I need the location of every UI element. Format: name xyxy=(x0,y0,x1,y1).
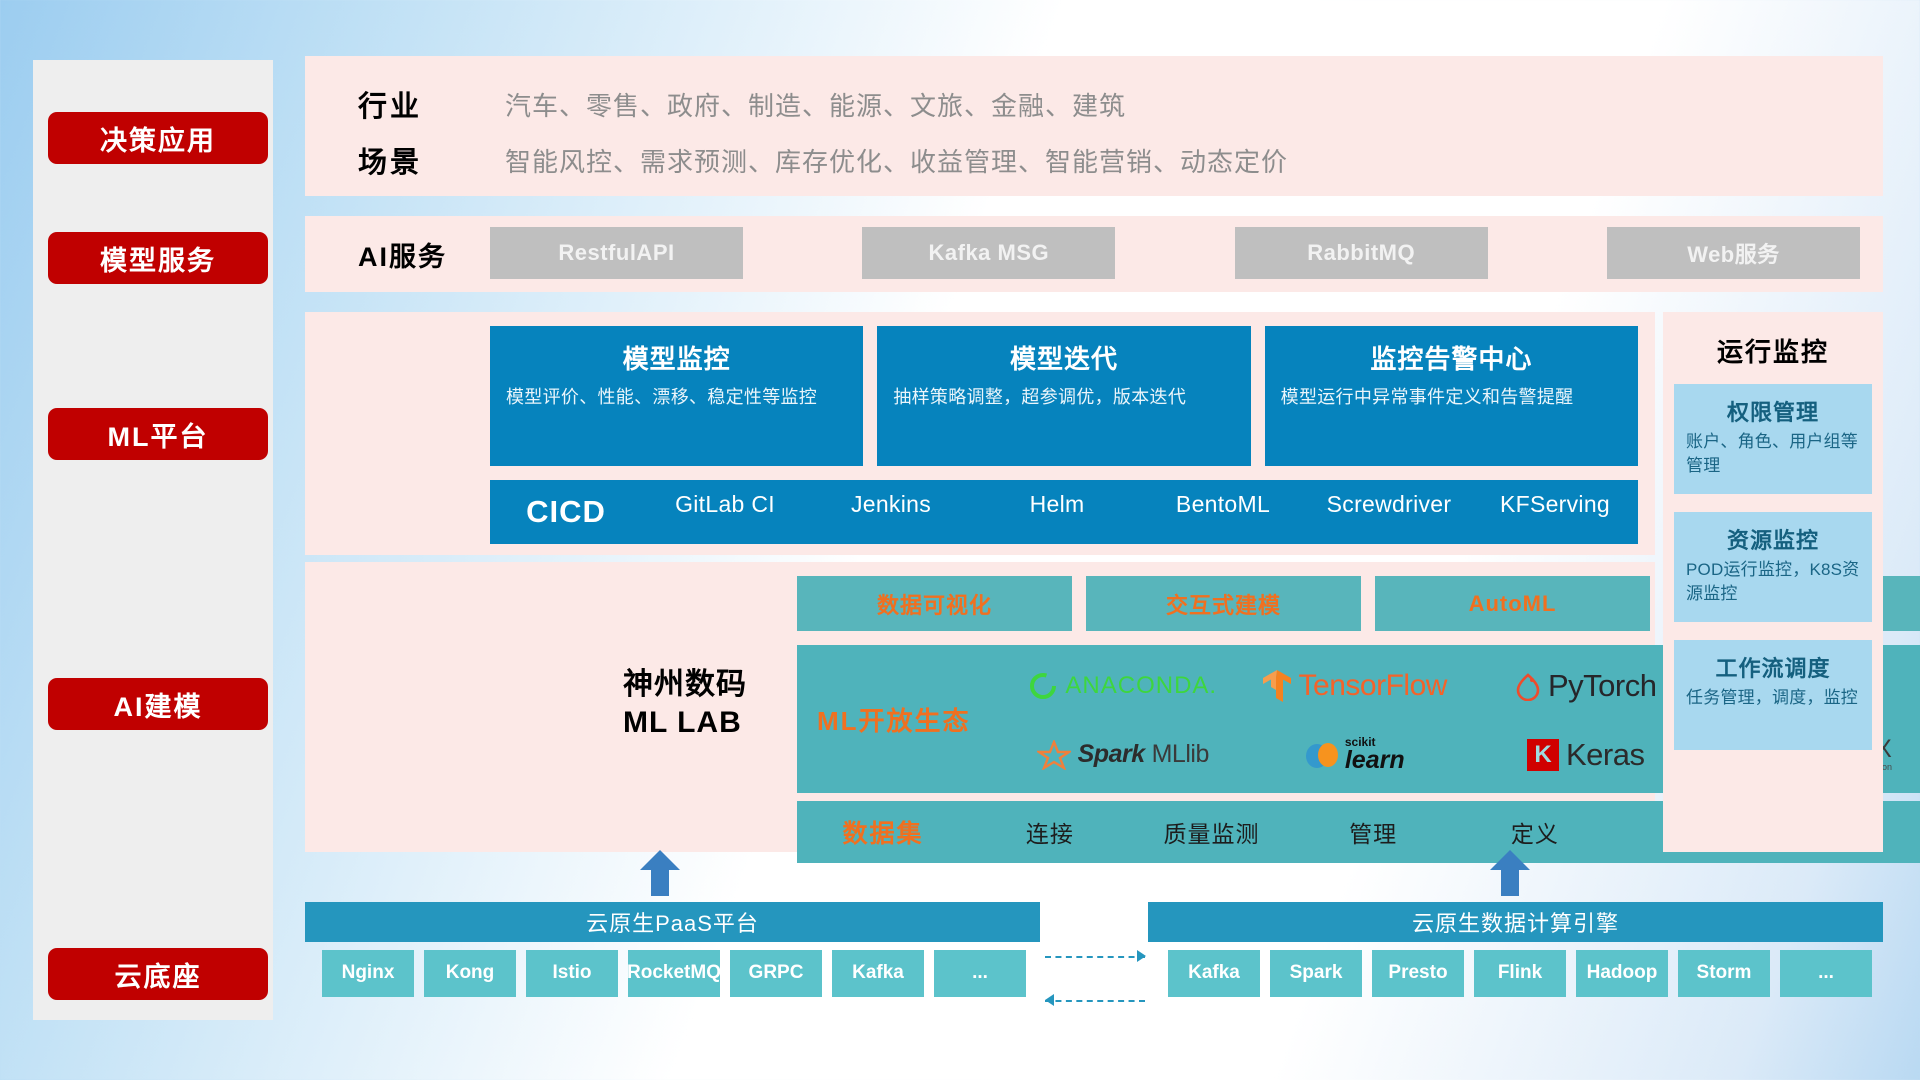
chip-grpc[interactable]: GRPC xyxy=(730,950,822,997)
ai-service-rabbitmq[interactable]: RabbitMQ xyxy=(1235,227,1488,279)
pytorch-flame-icon xyxy=(1515,671,1541,701)
chip-more-left[interactable]: ... xyxy=(934,950,1026,997)
chip-istio[interactable]: Istio xyxy=(526,950,618,997)
chip-rocketmq[interactable]: RocketMQ xyxy=(628,950,720,997)
chip-kong[interactable]: Kong xyxy=(424,950,516,997)
spark-logo-text: Spark xyxy=(1078,740,1145,769)
runtime-card-resource[interactable]: 资源监控 POD运行监控，K8S资源监控 xyxy=(1674,512,1872,622)
cloud-paas-chip-list: Nginx Kong Istio RocketMQ GRPC Kafka ... xyxy=(322,950,1026,997)
scikit-blob-icon xyxy=(1304,740,1338,770)
dataset-item-manage[interactable]: 管理 xyxy=(1292,815,1454,849)
cicd-item-bentoml[interactable]: BentoML xyxy=(1140,491,1306,517)
chip-more-right[interactable]: ... xyxy=(1780,950,1872,997)
industry-scenario-band: 行业 汽车、零售、政府、制造、能源、文旅、金融、建筑 场景 智能风控、需求预测、… xyxy=(305,56,1883,196)
mlops-card-list: 模型监控 模型评价、性能、漂移、稳定性等监控 模型迭代 抽样策略调整，超参调优，… xyxy=(490,326,1638,466)
tool-automl[interactable]: AutoML xyxy=(1375,576,1650,631)
chip-nginx[interactable]: Nginx xyxy=(322,950,414,997)
learn-logo-text: learn xyxy=(1345,748,1405,773)
scenario-label: 场景 xyxy=(358,139,422,181)
card-desc: 抽样策略调整，超参调优，版本迭代 xyxy=(893,384,1236,410)
ml-open-ecosystem-title: ML开放生态 xyxy=(817,701,971,738)
cicd-bar: CICD GitLab CI Jenkins Helm BentoML Scre… xyxy=(490,480,1638,544)
cicd-item-gitlab-ci[interactable]: GitLab CI xyxy=(642,491,808,517)
tensorflow-logo: TensorFlow xyxy=(1262,669,1447,703)
mlops-card-model-iteration[interactable]: 模型迭代 抽样策略调整，超参调优，版本迭代 xyxy=(877,326,1250,466)
tool-interactive-modeling[interactable]: 交互式建模 xyxy=(1086,576,1361,631)
spark-mllib-logo: Spark MLlib xyxy=(1037,740,1209,770)
scenario-values: 智能风控、需求预测、库存优化、收益管理、智能营销、动态定价 xyxy=(505,142,1288,179)
link-arrow-left xyxy=(1045,1000,1145,1002)
card-title: 工作流调度 xyxy=(1674,651,1872,683)
chip-hadoop[interactable]: Hadoop xyxy=(1576,950,1668,997)
card-desc: 模型运行中异常事件定义和告警提醒 xyxy=(1281,384,1624,410)
ai-service-web[interactable]: Web服务 xyxy=(1607,227,1860,279)
keras-logo-text: Keras xyxy=(1566,737,1644,773)
spark-star-icon xyxy=(1037,740,1071,770)
tool-data-visualization[interactable]: 数据可视化 xyxy=(797,576,1072,631)
runtime-card-workflow[interactable]: 工作流调度 任务管理，调度，监控 xyxy=(1674,640,1872,750)
stage-cloud-base[interactable]: 云底座 xyxy=(48,948,268,1000)
mlops-band: MLOps 模型监控 模型评价、性能、漂移、稳定性等监控 模型迭代 抽样策略调整… xyxy=(305,312,1655,555)
card-title: 模型监控 xyxy=(490,339,863,376)
runtime-monitor-title: 运行监控 xyxy=(1663,332,1883,369)
card-title: 模型迭代 xyxy=(877,339,1250,376)
runtime-monitor-panel: 运行监控 权限管理 账户、角色、用户组等管理 资源监控 POD运行监控，K8S资… xyxy=(1663,312,1883,852)
keras-badge-icon: K xyxy=(1527,739,1559,771)
cicd-item-helm[interactable]: Helm xyxy=(974,491,1140,517)
cicd-item-list: GitLab CI Jenkins Helm BentoML Screwdriv… xyxy=(642,480,1638,544)
stage-ai-modeling[interactable]: AI建模 xyxy=(48,678,268,730)
ml-lab-band: 神州数码 ML LAB 数据可视化 交互式建模 AutoML JupyterLa… xyxy=(305,562,1655,852)
cicd-item-screwdriver[interactable]: Screwdriver xyxy=(1306,491,1472,517)
cloud-paas-bar[interactable]: 云原生PaaS平台 xyxy=(305,902,1040,942)
stage-label-column xyxy=(33,60,273,1020)
tensorflow-logo-text: TensorFlow xyxy=(1299,669,1447,703)
stage-model-service[interactable]: 模型服务 xyxy=(48,232,268,284)
pytorch-logo: PyTorch xyxy=(1515,668,1656,704)
link-arrow-left-head-icon xyxy=(1045,994,1054,1006)
arrow-up-paas-icon xyxy=(640,850,680,896)
ml-lab-label-line1: 神州数码 xyxy=(623,666,747,704)
ml-lab-label-line2: ML LAB xyxy=(623,704,747,742)
ai-service-restfulapi[interactable]: RestfulAPI xyxy=(490,227,743,279)
card-title: 监控告警中心 xyxy=(1265,339,1638,376)
ai-service-label: AI服务 xyxy=(358,235,447,274)
mllib-logo-text: MLlib xyxy=(1152,740,1209,769)
runtime-card-permission[interactable]: 权限管理 账户、角色、用户组等管理 xyxy=(1674,384,1872,494)
ai-service-list: RestfulAPI Kafka MSG RabbitMQ Web服务 xyxy=(490,227,1860,279)
ai-service-band: AI服务 RestfulAPI Kafka MSG RabbitMQ Web服务 xyxy=(305,216,1883,292)
cloud-compute-chip-list: Kafka Spark Presto Flink Hadoop Storm ..… xyxy=(1168,950,1872,997)
tensorflow-mark-icon xyxy=(1262,669,1292,703)
stage-decision-app[interactable]: 决策应用 xyxy=(48,112,268,164)
card-title: 资源监控 xyxy=(1674,523,1872,555)
card-desc: POD运行监控，K8S资源监控 xyxy=(1686,558,1862,606)
ml-lab-label: 神州数码 ML LAB xyxy=(623,666,747,743)
industry-values: 汽车、零售、政府、制造、能源、文旅、金融、建筑 xyxy=(505,86,1126,123)
chip-kafka-right[interactable]: Kafka xyxy=(1168,950,1260,997)
cicd-title: CICD xyxy=(490,494,642,530)
stage-ml-platform[interactable]: ML平台 xyxy=(48,408,268,460)
anaconda-ring-icon xyxy=(1028,671,1058,701)
card-desc: 模型评价、性能、漂移、稳定性等监控 xyxy=(506,384,849,410)
chip-spark[interactable]: Spark xyxy=(1270,950,1362,997)
industry-label: 行业 xyxy=(358,83,422,125)
mlops-card-model-monitoring[interactable]: 模型监控 模型评价、性能、漂移、稳定性等监控 xyxy=(490,326,863,466)
card-desc: 账户、角色、用户组等管理 xyxy=(1686,430,1862,478)
chip-presto[interactable]: Presto xyxy=(1372,950,1464,997)
architecture-diagram: 决策应用 模型服务 ML平台 AI建模 云底座 行业 汽车、零售、政府、制造、能… xyxy=(0,0,1920,1080)
dataset-item-define[interactable]: 定义 xyxy=(1454,815,1616,849)
link-arrow-right-head-icon xyxy=(1137,950,1146,962)
cicd-item-kfserving[interactable]: KFServing xyxy=(1472,491,1638,517)
cloud-compute-bar[interactable]: 云原生数据计算引擎 xyxy=(1148,902,1883,942)
dataset-label: 数据集 xyxy=(797,814,969,850)
dataset-item-quality[interactable]: 质量监测 xyxy=(1131,815,1293,849)
card-desc: 任务管理，调度，监控 xyxy=(1686,686,1862,710)
cicd-item-jenkins[interactable]: Jenkins xyxy=(808,491,974,517)
chip-flink[interactable]: Flink xyxy=(1474,950,1566,997)
arrow-up-compute-icon xyxy=(1490,850,1530,896)
card-title: 权限管理 xyxy=(1674,395,1872,427)
keras-logo: K Keras xyxy=(1527,737,1644,773)
mlops-card-alert-center[interactable]: 监控告警中心 模型运行中异常事件定义和告警提醒 xyxy=(1265,326,1638,466)
link-arrow-right xyxy=(1045,956,1145,958)
chip-kafka-left[interactable]: Kafka xyxy=(832,950,924,997)
anaconda-logo: ANACONDA. xyxy=(1028,671,1217,701)
ai-service-kafka-msg[interactable]: Kafka MSG xyxy=(862,227,1115,279)
chip-storm[interactable]: Storm xyxy=(1678,950,1770,997)
dataset-item-connect[interactable]: 连接 xyxy=(969,815,1131,849)
scikit-learn-logo: scikit learn xyxy=(1304,736,1405,773)
anaconda-logo-text: ANACONDA. xyxy=(1065,672,1217,700)
pytorch-logo-text: PyTorch xyxy=(1548,668,1656,704)
